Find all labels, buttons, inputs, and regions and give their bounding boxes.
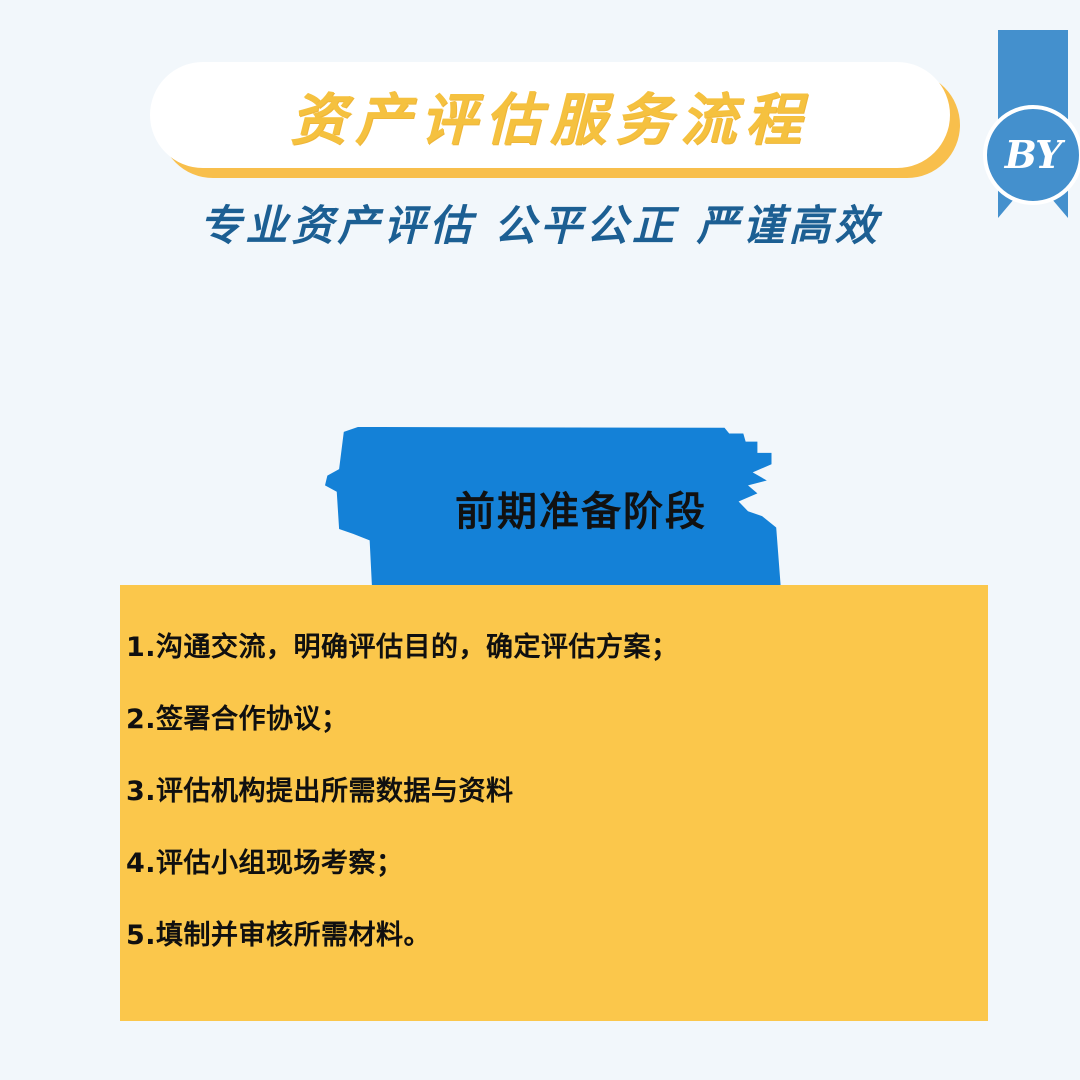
badge-monogram: BY [1005, 136, 1062, 174]
list-item: 5.填制并审核所需材料。 [126, 900, 976, 972]
badge-circle: BY [983, 105, 1080, 205]
list-item: 1.沟通交流，明确评估目的，确定评估方案； [126, 612, 976, 684]
list-item: 2.签署合作协议； [126, 684, 976, 756]
page-title: 资产评估服务流程 [150, 62, 950, 168]
list-item: 3.评估机构提出所需数据与资料 [126, 756, 976, 828]
list-item: 4.评估小组现场考察； [126, 828, 976, 900]
title-banner: 资产评估服务流程 [150, 62, 950, 172]
stage-banner-label: 前期准备阶段 [325, 427, 795, 589]
brand-badge: BY [985, 30, 1080, 222]
poster-header: 资产评估服务流程 专业资产评估 公平公正 严谨高效 BY [0, 0, 1080, 270]
steps-list: 1.沟通交流，明确评估目的，确定评估方案； 2.签署合作协议； 3.评估机构提出… [126, 612, 976, 972]
poster-root: 资产评估服务流程 专业资产评估 公平公正 严谨高效 BY 前期准备阶段 1.沟通… [0, 0, 1080, 1080]
page-subtitle: 专业资产评估 公平公正 严谨高效 [0, 192, 1080, 253]
